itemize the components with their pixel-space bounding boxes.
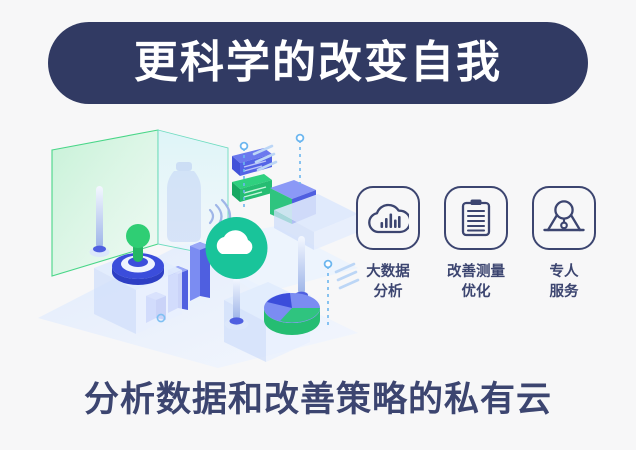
cloud-bar-chart-icon [367,201,409,235]
support-agent-icon [543,199,585,237]
banner-title: 更科学的改变自我 [134,41,502,85]
poster-canvas: 更科学的改变自我 [0,0,636,450]
page-tagline: 分析数据和改善策略的私有云 [0,382,636,417]
feature-list: 大数据 分析 改善测量 优化 [352,186,600,331]
bottle-icon [167,162,201,242]
feature-icon-frame [532,186,596,250]
feature-item-big-data[interactable]: 大数据 分析 [352,186,424,331]
isometric-illustration [28,118,368,368]
tag-badge-green [232,174,272,202]
illustration-svg [28,118,368,368]
feature-item-support[interactable]: 专人 服务 [528,186,600,331]
feature-label: 改善测量 优化 [447,263,505,302]
feature-label: 大数据 分析 [366,263,410,302]
clipboard-lines-icon [459,198,493,238]
feature-item-measurement[interactable]: 改善测量 优化 [440,186,512,331]
feature-label: 专人 服务 [550,263,579,302]
pie-chart-3d [264,293,320,335]
tag-badge-blue [232,148,272,176]
title-banner: 更科学的改变自我 [48,22,588,104]
feature-icon-frame [444,186,508,250]
feature-icon-frame [356,186,420,250]
